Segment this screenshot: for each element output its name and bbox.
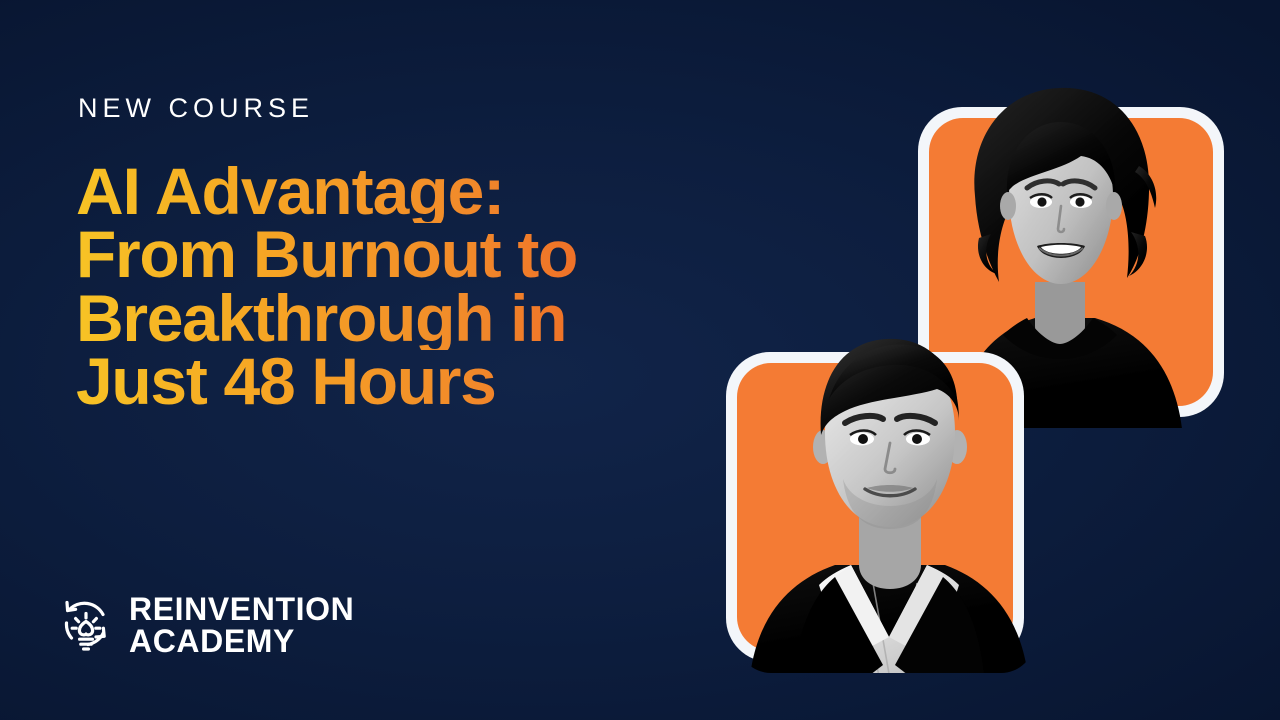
headline-line-2: From Burnout to xyxy=(76,223,776,286)
brand-name-line-1: REINVENTION xyxy=(129,593,354,626)
instructor-card-man-clip xyxy=(737,363,1013,651)
instructor-card-man xyxy=(726,352,1024,662)
headline-line-4: Just 48 Hours xyxy=(76,350,776,413)
promo-banner: NEW COURSE AI Advantage: From Burnout to… xyxy=(0,0,1280,720)
headline-line-1: AI Advantage: xyxy=(76,160,776,223)
brand-logo: REINVENTION ACADEMY xyxy=(58,593,354,658)
brand-logo-text: REINVENTION ACADEMY xyxy=(129,593,354,658)
instructor-card-man-background xyxy=(737,363,1013,651)
lightbulb-refresh-icon xyxy=(58,594,114,656)
eyebrow-label: NEW COURSE xyxy=(78,95,314,122)
headline-line-3: Breakthrough in xyxy=(76,287,776,350)
page-title: AI Advantage: From Burnout to Breakthrou… xyxy=(76,160,776,413)
brand-name-line-2: ACADEMY xyxy=(129,625,354,658)
